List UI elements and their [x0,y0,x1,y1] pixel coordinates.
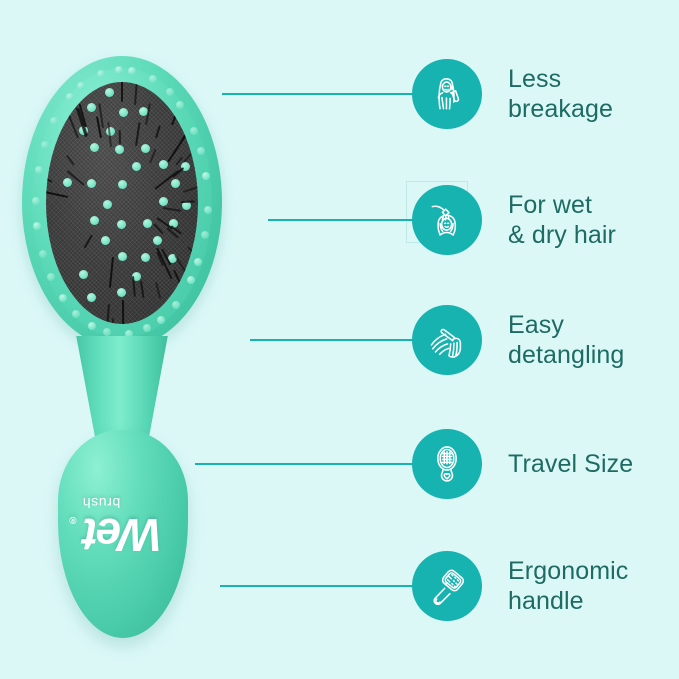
connector-line-easy-detangling [250,339,414,341]
feature-icon-wrap-travel-size [412,429,482,499]
registered-trademark-icon: ® [71,515,76,524]
feature-label-travel-size: Travel Size [508,449,633,480]
feature-wet-dry-hair[interactable]: For wet & dry hair [412,185,616,255]
infographic-canvas: Wet Wet ® brush Less breakage [0,0,679,679]
connector-line-ergonomic-handle [220,585,414,587]
feature-label-wet-dry-hair: For wet & dry hair [508,190,616,251]
feature-icon-wrap-less-breakage [412,59,482,129]
mini-brush-heart-icon[interactable] [412,429,482,499]
feature-travel-size[interactable]: Travel Size [412,429,633,499]
feature-icon-wrap-wet-dry-hair [412,185,482,255]
paddle-brush-angled-icon[interactable] [412,551,482,621]
feature-label-ergonomic-handle: Ergonomic handle [508,556,628,617]
brand-wet-text: Wet [84,509,162,561]
connector-line-travel-size [195,463,414,465]
handle-logo-group: Wet ® brush [58,430,188,638]
woman-brushing-hair-icon[interactable] [412,59,482,129]
product-image-hair-brush: Wet Wet ® brush [8,38,238,638]
feature-icon-wrap-ergonomic-handle [412,551,482,621]
feature-less-breakage[interactable]: Less breakage [412,59,613,129]
feature-icon-wrap-easy-detangling [412,305,482,375]
feature-label-easy-detangling: Easy detangling [508,310,624,371]
brand-logo-wet: Wet ® brush [84,513,162,554]
brand-brush-text: brush [82,496,120,509]
hand-combing-hair-icon[interactable] [412,305,482,375]
brush-bristle-pad [46,82,198,324]
connector-line-less-breakage [222,93,414,95]
feature-easy-detangling[interactable]: Easy detangling [412,305,624,375]
shower-head-woman-icon[interactable] [412,185,482,255]
feature-ergonomic-handle[interactable]: Ergonomic handle [412,551,628,621]
connector-line-wet-dry-hair [268,219,414,221]
feature-label-less-breakage: Less breakage [508,64,613,125]
